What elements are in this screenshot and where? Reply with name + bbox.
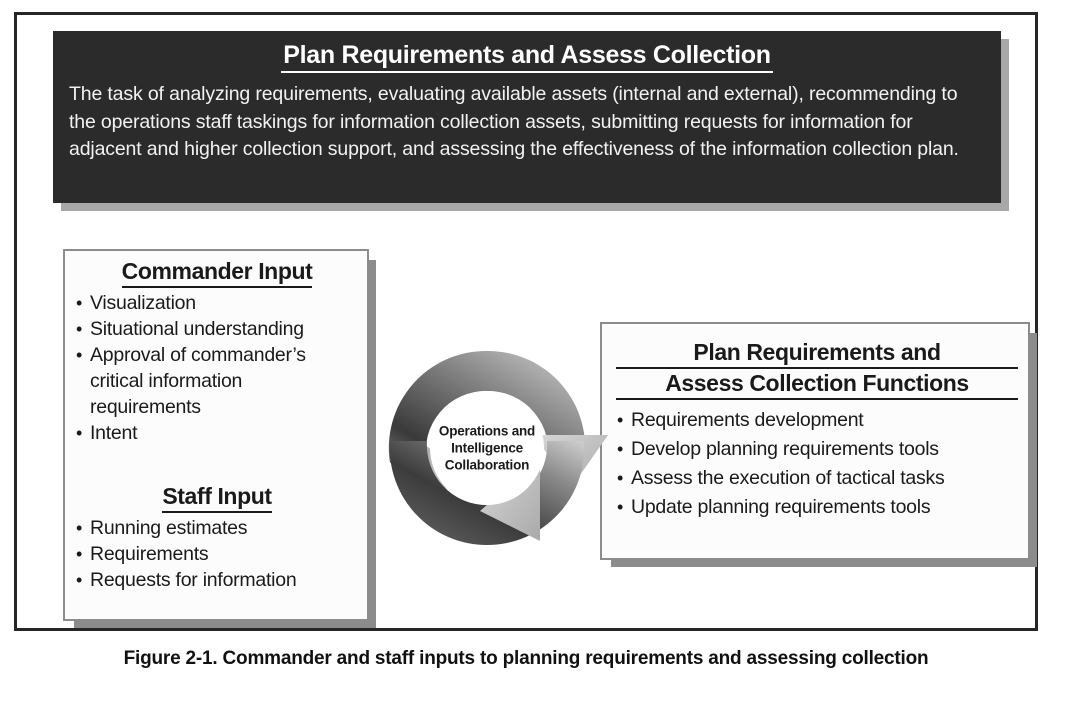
staff-input-list: Running estimates Requirements Requests … [75, 516, 359, 593]
collaboration-cycle-graphic: Operations and Intelligence Collaboratio… [362, 323, 612, 573]
list-item: Running estimates [75, 516, 359, 541]
banner-shadow [1001, 39, 1009, 211]
cycle-arrows-svg [362, 323, 612, 573]
list-item: Develop planning requirements tools [616, 435, 1018, 463]
commander-input-list: Visualization Situational understanding … [75, 291, 359, 446]
banner-title: Plan Requirements and Assess Collection [281, 40, 773, 73]
list-item: Update planning requirements tools [616, 493, 1018, 521]
staff-input-heading-text: Staff Input [162, 482, 271, 513]
staff-input-heading: Staff Input [75, 482, 359, 513]
functions-heading-line-1: Plan Requirements and [616, 338, 1018, 369]
functions-panel-heading: Plan Requirements and Assess Collection … [616, 338, 1018, 400]
list-item: Visualization [75, 291, 359, 316]
list-item: Requirements development [616, 406, 1018, 434]
definition-banner: Plan Requirements and Assess Collection … [53, 31, 1001, 203]
list-item: Situational understanding [75, 317, 359, 342]
list-item-continuation: critical information [75, 369, 359, 394]
functions-heading-line-2: Assess Collection Functions [616, 369, 1018, 400]
cycle-center-disc [430, 391, 544, 505]
figure-caption: Figure 2-1. Commander and staff inputs t… [14, 646, 1038, 672]
banner-title-wrap: Plan Requirements and Assess Collection [69, 40, 985, 77]
list-item-continuation: requirements [75, 395, 359, 420]
commander-input-heading: Commander Input [75, 257, 359, 288]
list-item: Requirements [75, 542, 359, 567]
panel-shadow-bottom [74, 619, 376, 628]
functions-list: Requirements development Develop plannin… [616, 406, 1018, 521]
list-item: Intent [75, 421, 359, 446]
panel-shadow-bottom [611, 558, 1037, 567]
commander-input-panel: Commander Input Visualization Situationa… [63, 249, 369, 621]
commander-input-heading-text: Commander Input [122, 257, 313, 288]
list-item: Assess the execution of tactical tasks [616, 464, 1018, 492]
list-item: Requests for information [75, 568, 359, 593]
banner-body-text: The task of analyzing requirements, eval… [69, 81, 985, 164]
figure-frame: Plan Requirements and Assess Collection … [14, 12, 1038, 631]
assess-collection-functions-panel: Plan Requirements and Assess Collection … [600, 322, 1030, 560]
panel-shadow-right [1028, 333, 1037, 567]
list-item: Approval of commander’s [75, 343, 359, 368]
